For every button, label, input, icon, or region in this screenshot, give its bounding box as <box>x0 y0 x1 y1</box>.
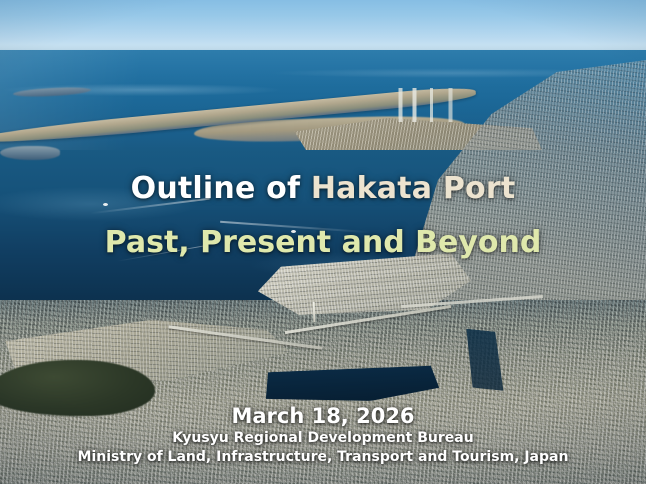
presentation-date: March 18, 2026 <box>0 404 646 429</box>
organization-name: Kyusyu Regional Development Bureau <box>0 429 646 448</box>
slide-text-layer: Outline of Hakata Port Past, Present and… <box>0 0 646 484</box>
title-port-name: Hakata Port <box>311 171 516 206</box>
footer-block: March 18, 2026 Kyusyu Regional Developme… <box>0 404 646 467</box>
title-block: Outline of Hakata Port <box>0 172 646 206</box>
slide-title: Outline of Hakata Port <box>0 172 646 206</box>
ministry-name: Ministry of Land, Infrastructure, Transp… <box>0 448 646 467</box>
title-slide: Outline of Hakata Port Past, Present and… <box>0 0 646 484</box>
slide-subtitle: Past, Present and Beyond <box>0 226 646 260</box>
title-prefix: Outline of <box>131 171 311 206</box>
